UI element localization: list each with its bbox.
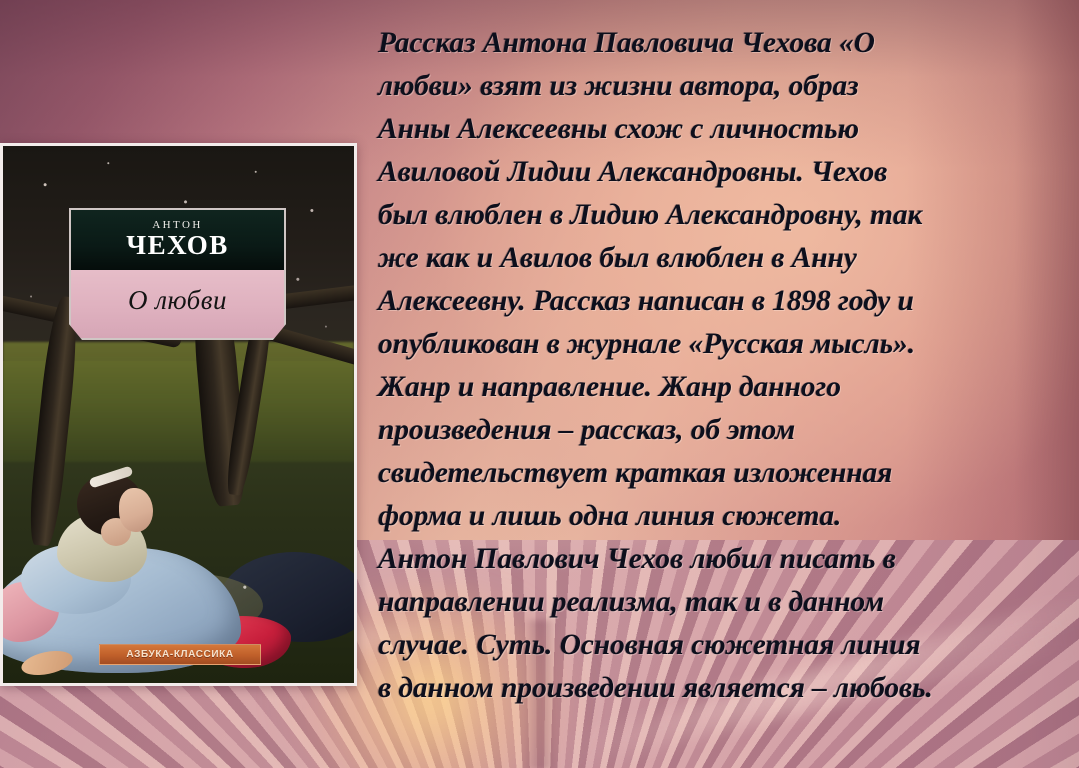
- body-text-line: случае. Суть. Основная сюжетная линия: [378, 624, 1068, 667]
- publisher-imprint-band: АЗБУКА-КЛАССИКА: [99, 644, 261, 665]
- body-text-line: в данном произведении является – любовь.: [378, 667, 1068, 710]
- body-text-line: Алексеевну. Рассказ написан в 1898 году …: [378, 280, 1068, 323]
- body-text-line: свидетельствует краткая изложенная: [378, 452, 1068, 495]
- cover-title-band: О любви: [71, 270, 284, 338]
- body-text-line: Анны Алексеевны схож с личностью: [378, 108, 1068, 151]
- cover-author-band: АНТОН ЧЕХОВ: [71, 210, 284, 270]
- slide-body-text: Рассказ Антона Павловича Чехова «Олюбви»…: [378, 22, 1068, 710]
- cover-title-plaque: АНТОН ЧЕХОВ О любви: [69, 208, 286, 340]
- book-cover-image: АНТОН ЧЕХОВ О любви АЗБУКА-КЛАССИКА: [0, 143, 357, 686]
- body-text-line: опубликован в журнале «Русская мысль».: [378, 323, 1068, 366]
- body-text-line: форма и лишь одна линия сюжета.: [378, 495, 1068, 538]
- body-text-line: направлении реализма, так и в данном: [378, 581, 1068, 624]
- body-text-line: Жанр и направление. Жанр данного: [378, 366, 1068, 409]
- body-text-line: был влюблен в Лидию Александровну, так: [378, 194, 1068, 237]
- body-text-line: любви» взят из жизни автора, образ: [378, 65, 1068, 108]
- figure-face: [119, 488, 153, 532]
- body-text-line: Антон Павлович Чехов любил писать в: [378, 538, 1068, 581]
- cover-author-last-name: ЧЕХОВ: [71, 232, 284, 259]
- presentation-slide: АНТОН ЧЕХОВ О любви АЗБУКА-КЛАССИКА Расс…: [0, 0, 1079, 768]
- body-text-line: Авиловой Лидии Александровны. Чехов: [378, 151, 1068, 194]
- body-text-line: Рассказ Антона Павловича Чехова «О: [378, 22, 1068, 65]
- cover-title-text: О любви: [128, 285, 227, 315]
- body-text-line: произведения – рассказ, об этом: [378, 409, 1068, 452]
- publisher-imprint-text: АЗБУКА-КЛАССИКА: [126, 649, 233, 660]
- body-text-line: же как и Авилов был влюблен в Анну: [378, 237, 1068, 280]
